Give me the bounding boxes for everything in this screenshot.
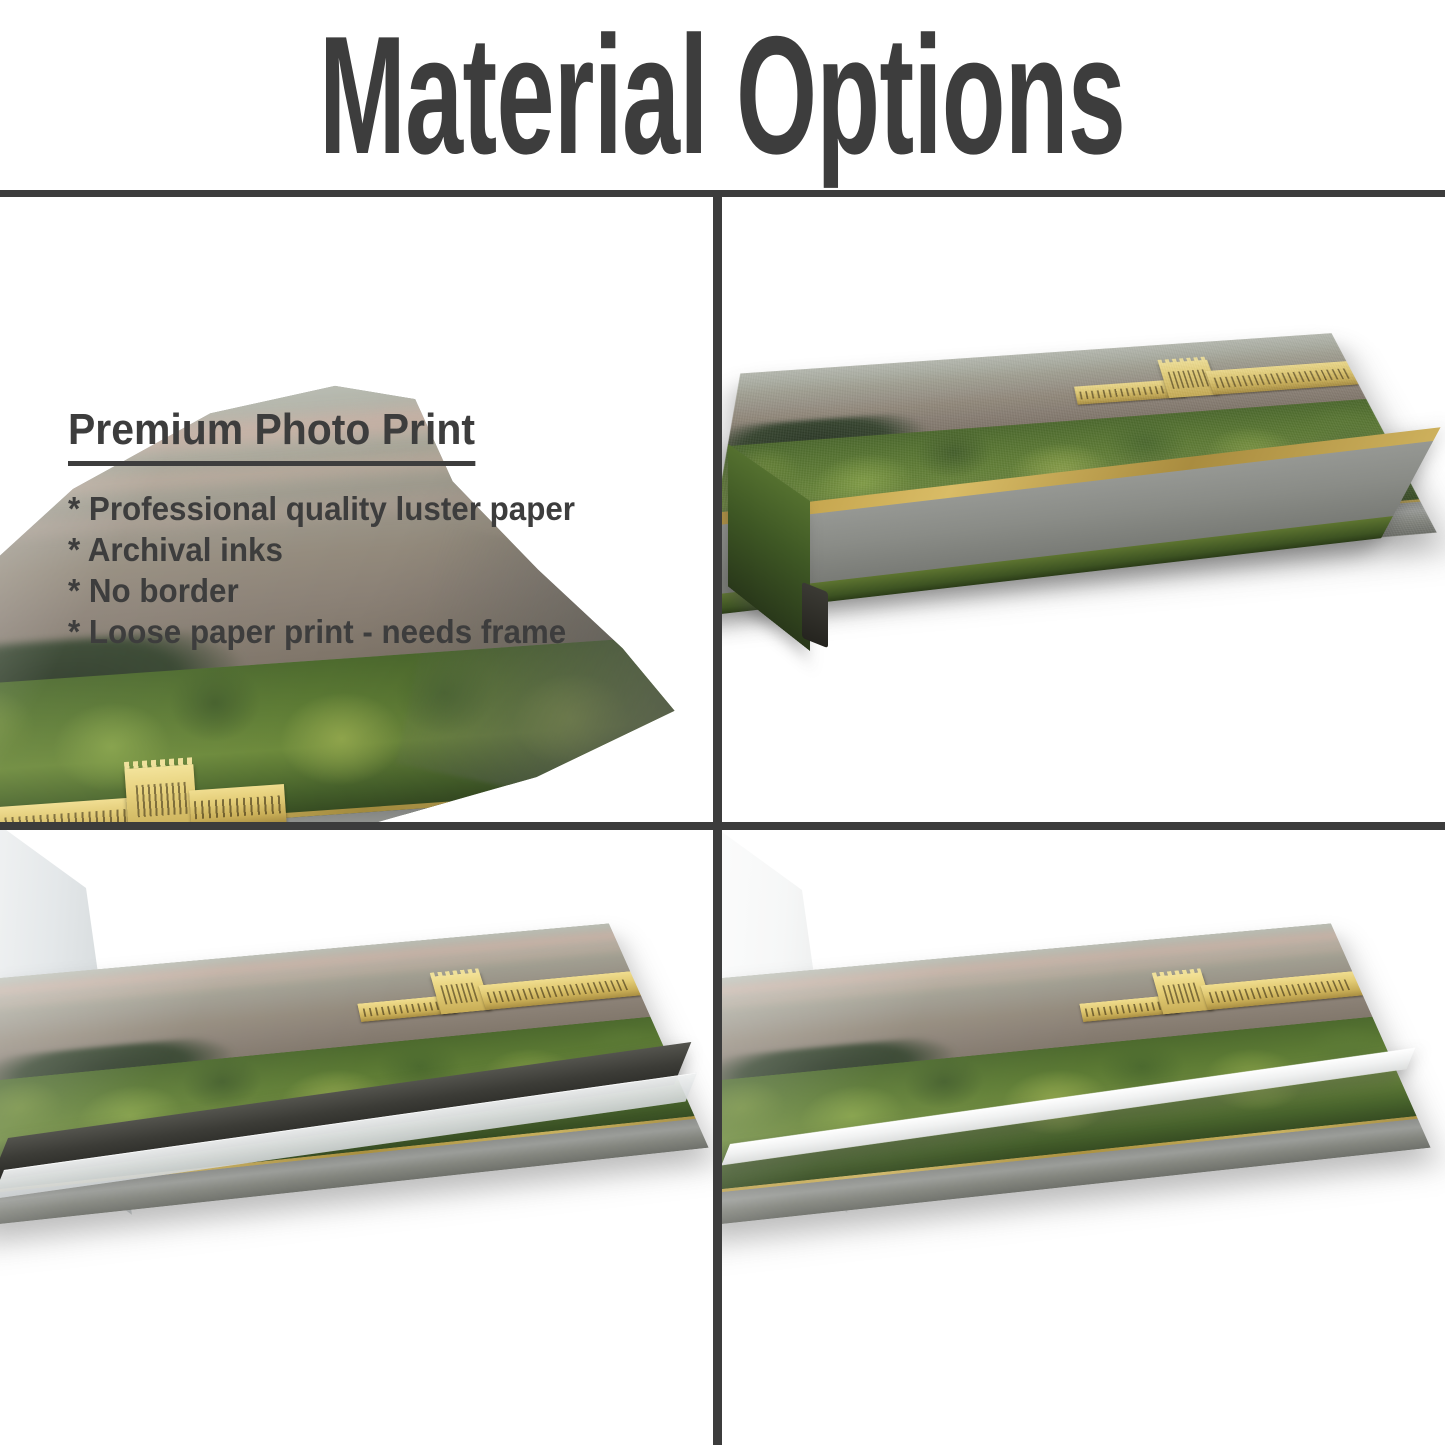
- acrylic-artwork: [0, 830, 713, 1254]
- bullet-item: * No border: [68, 570, 575, 611]
- divider-horizontal-middle: [0, 822, 1445, 830]
- metal-artwork: [722, 830, 1444, 1254]
- panel-gallery-wrapped-canvas: Gallery Wrapped Canvas * 1.5 inch thickn…: [722, 197, 1445, 822]
- material-options-infographic: Material Options: [0, 0, 1445, 1445]
- premium-photo-print-text: Premium Photo Print * Professional quali…: [68, 405, 602, 652]
- panel-premium-photo-print: Premium Photo Print * Professional quali…: [0, 197, 713, 822]
- divider-horizontal-top: [0, 190, 1445, 197]
- canvas-corner: [802, 582, 828, 649]
- page-title: Material Options: [319, 20, 1125, 170]
- title-bar: Material Options: [0, 0, 1445, 190]
- canvas-artwork: [722, 197, 1445, 683]
- panel-acrylic-print: Acrylic Print * 1/8” clear acrylic * 99.…: [0, 830, 713, 1445]
- bullet-item: * Loose paper print - needs frame: [68, 611, 575, 652]
- panel-heading: Premium Photo Print: [68, 405, 475, 466]
- bullet-item: * Professional quality luster paper: [68, 488, 575, 529]
- panel-metal-aluminum-print: Metal/Aluminum Print * 3/64” thick alumi…: [722, 830, 1445, 1445]
- panel-bullets: * Professional quality luster paper * Ar…: [68, 488, 602, 652]
- divider-vertical: [713, 190, 722, 1445]
- bullet-item: * Archival inks: [68, 529, 575, 570]
